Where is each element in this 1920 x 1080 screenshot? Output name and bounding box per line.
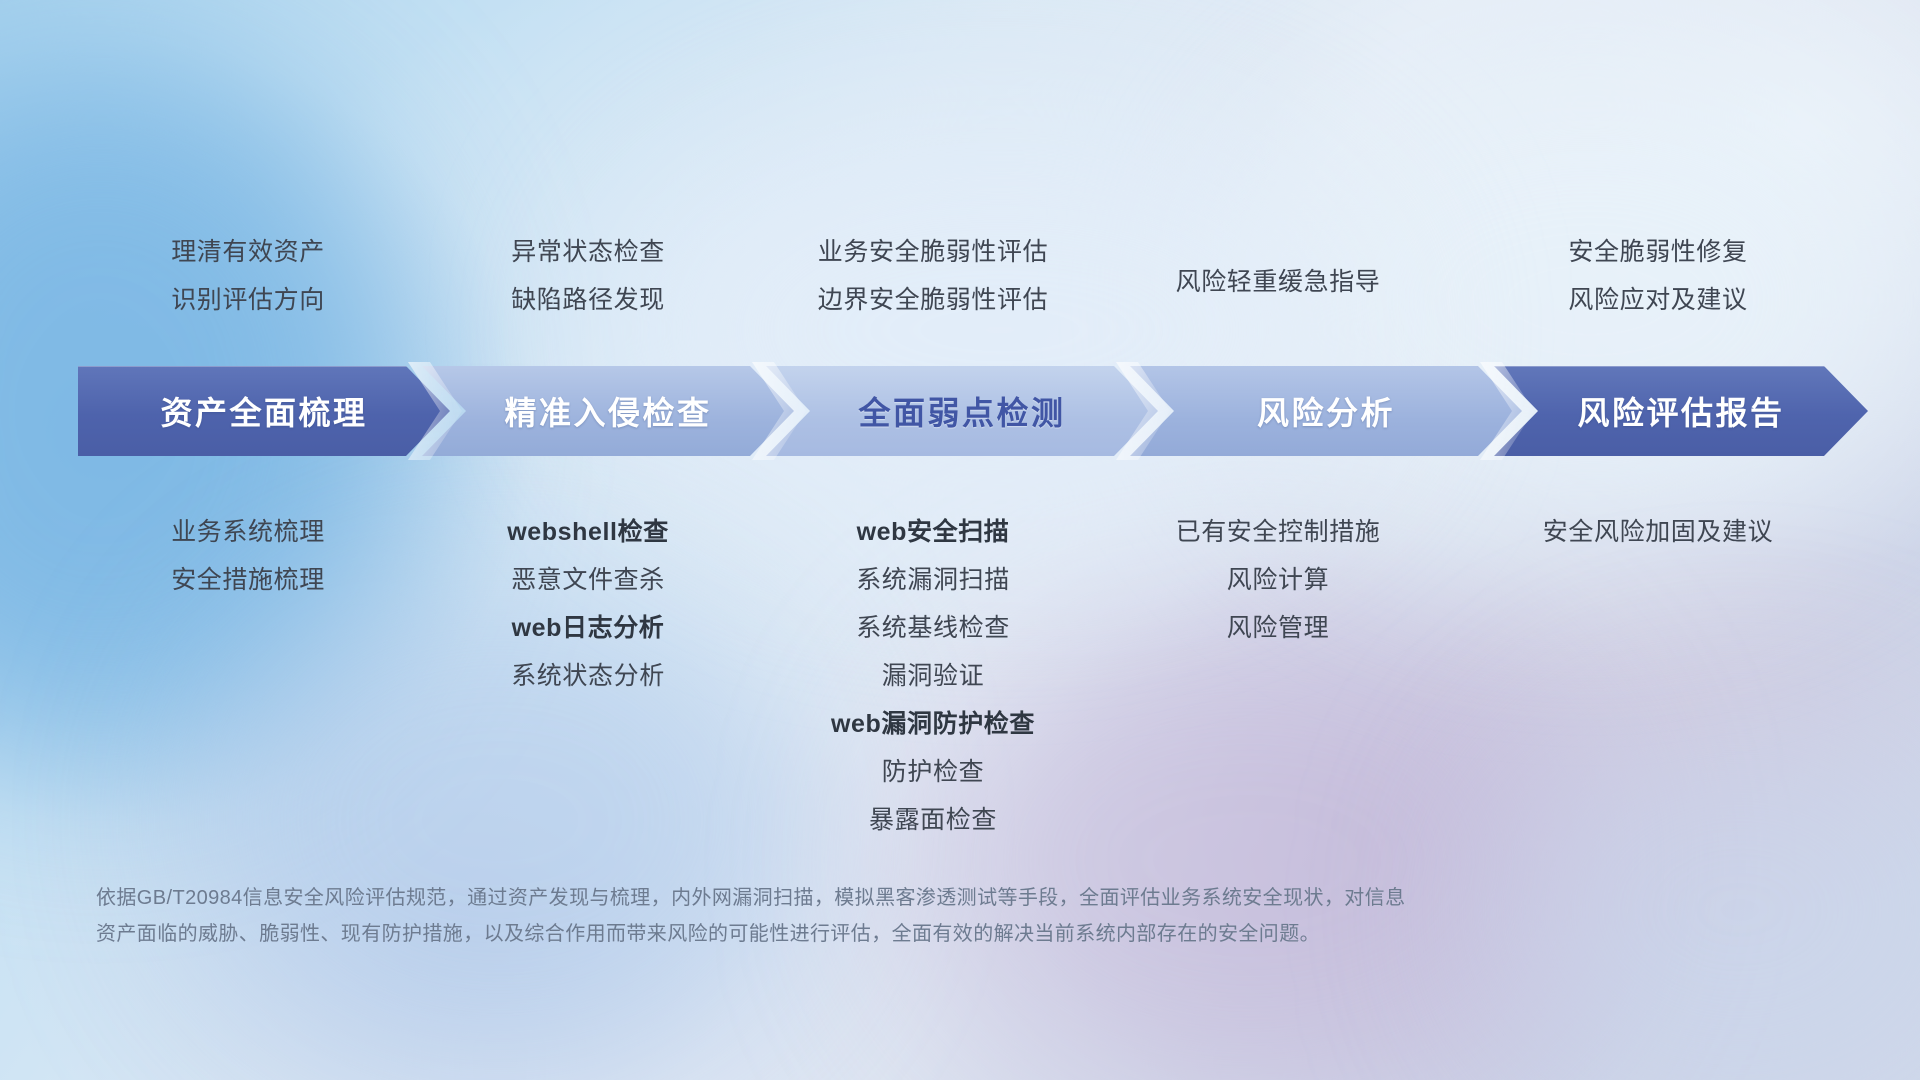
- input-item: 识别评估方向: [78, 276, 418, 324]
- task-item: 恶意文件查杀: [418, 556, 758, 604]
- task-item: 已有安全控制措施: [1108, 508, 1448, 556]
- stage-tasks-risk-analysis: 已有安全控制措施 风险计算 风险管理: [1108, 508, 1448, 652]
- task-item: 漏洞验证: [758, 652, 1108, 700]
- task-item: webshell检查: [418, 508, 758, 556]
- input-item: 风险应对及建议: [1448, 276, 1868, 324]
- stage-inputs-risk-analysis: 风险轻重缓急指导: [1108, 228, 1448, 306]
- footer-line: 资产面临的威胁、脆弱性、现有防护措施，以及综合作用而带来风险的可能性进行评估，全…: [96, 916, 1656, 952]
- stage-inputs-risk-report: 安全脆弱性修复 风险应对及建议: [1448, 228, 1868, 324]
- task-item: 风险计算: [1108, 556, 1448, 604]
- task-item: web安全扫描: [758, 508, 1108, 556]
- task-item: 系统漏洞扫描: [758, 556, 1108, 604]
- input-item: 风险轻重缓急指导: [1108, 258, 1448, 306]
- stage-tasks-asset-inventory: 业务系统梳理 安全措施梳理: [78, 508, 418, 604]
- stage-inputs-intrusion-check: 异常状态检查 缺陷路径发现: [418, 228, 758, 324]
- stage-inputs-asset-inventory: 理清有效资产 识别评估方向: [78, 228, 418, 324]
- task-item: 业务系统梳理: [78, 508, 418, 556]
- input-item: 业务安全脆弱性评估: [758, 228, 1108, 276]
- task-item: 安全措施梳理: [78, 556, 418, 604]
- footer-line: 依据GB/T20984信息安全风险评估规范，通过资产发现与梳理，内外网漏洞扫描，…: [96, 880, 1656, 916]
- task-item: web日志分析: [418, 604, 758, 652]
- chevron-stage-asset-inventory[interactable]: 资产全面梳理: [78, 366, 450, 456]
- task-item: web漏洞防护检查: [758, 700, 1108, 748]
- input-item: 异常状态检查: [418, 228, 758, 276]
- stage-inputs-row: 理清有效资产 识别评估方向 异常状态检查 缺陷路径发现 业务安全脆弱性评估 边界…: [78, 228, 1868, 324]
- chevron-stage-risk-report[interactable]: 风险评估报告: [1494, 366, 1868, 456]
- stage-inputs-weakness-detection: 业务安全脆弱性评估 边界安全脆弱性评估: [758, 228, 1108, 324]
- chevron-label: 全面弱点检测: [858, 388, 1065, 434]
- chevron-label: 资产全面梳理: [160, 388, 367, 434]
- task-item: 风险管理: [1108, 604, 1448, 652]
- task-item: 安全风险加固及建议: [1448, 508, 1868, 556]
- spacer: [1108, 228, 1448, 258]
- task-item: 系统基线检查: [758, 604, 1108, 652]
- slide-canvas: 理清有效资产 识别评估方向 异常状态检查 缺陷路径发现 业务安全脆弱性评估 边界…: [0, 0, 1920, 1080]
- input-item: 理清有效资产: [78, 228, 418, 276]
- input-item: 缺陷路径发现: [418, 276, 758, 324]
- input-item: 边界安全脆弱性评估: [758, 276, 1108, 324]
- stage-tasks-intrusion-check: webshell检查 恶意文件查杀 web日志分析 系统状态分析: [418, 508, 758, 700]
- footer-description: 依据GB/T20984信息安全风险评估规范，通过资产发现与梳理，内外网漏洞扫描，…: [96, 880, 1656, 952]
- stage-tasks-weakness-detection: web安全扫描 系统漏洞扫描 系统基线检查 漏洞验证 web漏洞防护检查 防护检…: [758, 508, 1108, 844]
- task-item: 系统状态分析: [418, 652, 758, 700]
- chevron-label: 风险评估报告: [1577, 388, 1784, 434]
- chevron-label: 精准入侵检查: [504, 388, 711, 434]
- stage-tasks-risk-report: 安全风险加固及建议: [1448, 508, 1868, 556]
- input-item: 安全脆弱性修复: [1448, 228, 1868, 276]
- chevron-label: 风险分析: [1257, 388, 1395, 434]
- task-item: 暴露面检查: [758, 796, 1108, 844]
- task-item: 防护检查: [758, 748, 1108, 796]
- process-chevron-band: 资产全面梳理 精准入侵检查 全面弱点检测 风险分析 风险评估报告: [78, 366, 1868, 456]
- chevron-stage-intrusion-check[interactable]: 精准入侵检查: [422, 366, 794, 456]
- chevron-stage-weakness-detection[interactable]: 全面弱点检测: [766, 366, 1158, 456]
- chevron-stage-risk-analysis[interactable]: 风险分析: [1130, 366, 1522, 456]
- stage-tasks-row: 业务系统梳理 安全措施梳理 webshell检查 恶意文件查杀 web日志分析 …: [78, 508, 1868, 844]
